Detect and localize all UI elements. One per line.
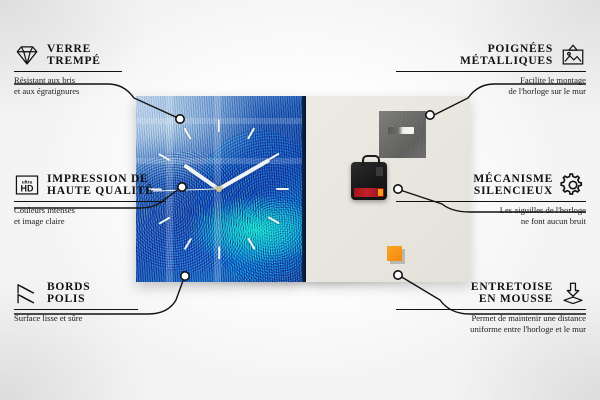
- callout-title-line-1: ENTRETOISE: [471, 281, 553, 293]
- callout-header: MÉCANISME SILENCIEUX: [396, 172, 586, 198]
- diamond-icon: [14, 42, 40, 68]
- gear-icon: [560, 172, 586, 198]
- callout-mecanisme-silencieux[interactable]: MÉCANISME SILENCIEUX Les aiguilles de l'…: [396, 172, 586, 228]
- callout-header: ultra HD IMPRESSION DE HAUTE QUALITÉ: [14, 172, 204, 198]
- callout-title-line-2: EN MOUSSE: [479, 293, 553, 305]
- callout-description: Résistant aux bris et aux égratignures: [14, 75, 204, 98]
- callout-title: POIGNÉES MÉTALLIQUES: [460, 43, 553, 68]
- callout-header: ENTRETOISE EN MOUSSE: [396, 280, 586, 306]
- callout-title-line-1: MÉCANISME: [473, 173, 553, 185]
- callout-rule: [14, 201, 166, 202]
- callout-title: IMPRESSION DE HAUTE QUALITÉ: [47, 173, 154, 198]
- callout-title: VERRE TREMPÉ: [47, 43, 101, 68]
- callout-title-line-1: BORDS: [47, 281, 90, 293]
- callout-description: Les aiguilles de l'horloge ne font aucun…: [396, 205, 586, 228]
- callout-rule: [14, 71, 122, 72]
- callout-header: POIGNÉES MÉTALLIQUES: [396, 42, 586, 68]
- callout-title-line-1: VERRE: [47, 43, 91, 55]
- callout-description: Permet de maintenir une distance uniform…: [396, 313, 586, 336]
- callout-title-line-2: SILENCIEUX: [474, 185, 553, 197]
- wall-mount-frame-icon: [560, 42, 586, 68]
- infographic-canvas: VERRE TREMPÉ Résistant aux bris et aux é…: [0, 0, 600, 400]
- callout-title: BORDS POLIS: [47, 281, 90, 306]
- mechanism-hook: [362, 155, 380, 166]
- callout-entretoise-en-mousse[interactable]: ENTRETOISE EN MOUSSE Permet de maintenir…: [396, 280, 586, 336]
- callout-title-line-2: MÉTALLIQUES: [460, 55, 553, 67]
- callout-description: Couleurs intenses et image claire: [14, 205, 204, 228]
- callout-rule: [396, 71, 586, 72]
- callout-impression-haute-qualite[interactable]: ultra HD IMPRESSION DE HAUTE QUALITÉ Cou…: [14, 172, 204, 228]
- spacer-arrow-icon: [560, 280, 586, 306]
- callout-rule: [396, 309, 586, 310]
- callout-header: VERRE TREMPÉ: [14, 42, 204, 68]
- callout-title-line-2: TREMPÉ: [47, 55, 101, 67]
- battery-terminal: [378, 189, 383, 196]
- callout-title-line-2: POLIS: [47, 293, 85, 305]
- callout-header: BORDS POLIS: [14, 280, 204, 306]
- callout-poignees-metalliques[interactable]: POIGNÉES MÉTALLIQUES Facilite le montage…: [396, 42, 586, 98]
- callout-title-line-2: HAUTE QUALITÉ: [47, 185, 154, 197]
- callout-title: MÉCANISME SILENCIEUX: [473, 173, 553, 198]
- callout-description: Surface lisse et sûre: [14, 313, 204, 324]
- callout-title-line-1: IMPRESSION DE: [47, 173, 148, 185]
- mechanism-knob: [376, 167, 383, 176]
- callout-rule: [396, 201, 586, 202]
- hanger-slot: [388, 127, 414, 134]
- foam-spacer: [387, 246, 402, 261]
- ultra-hd-icon: ultra HD: [14, 172, 40, 198]
- callout-description: Facilite le montage de l'horloge sur le …: [396, 75, 586, 98]
- callout-bords-polis[interactable]: BORDS POLIS Surface lisse et sûre: [14, 280, 204, 324]
- ultra-hd-icon-large-text: HD: [21, 184, 34, 194]
- callout-verre-trempe[interactable]: VERRE TREMPÉ Résistant aux bris et aux é…: [14, 42, 204, 98]
- callout-rule: [14, 309, 138, 310]
- polished-edges-icon: [14, 280, 40, 306]
- metal-hanger-plate: [379, 111, 426, 158]
- callout-title: ENTRETOISE EN MOUSSE: [471, 281, 553, 306]
- battery: [354, 188, 384, 197]
- callout-title-line-1: POIGNÉES: [488, 43, 553, 55]
- clock-mechanism-box: [351, 162, 387, 200]
